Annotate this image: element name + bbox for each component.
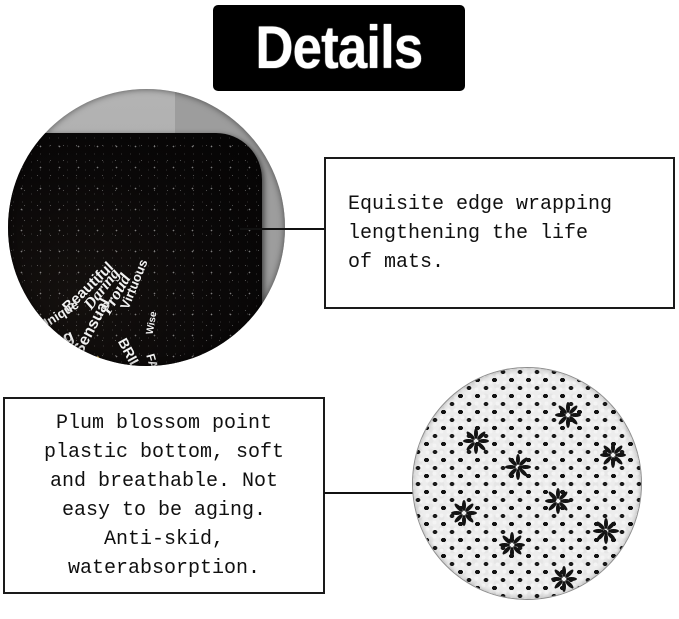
connector-line-top [240,228,326,230]
callout-edge-wrapping-text: Equisite edge wrapping lengthening the l… [348,190,673,277]
sunflower-icon [68,355,112,366]
callout-plastic-bottom: Plum blossom point plastic bottom, soft … [3,397,325,594]
anti-skid-dot-grid [412,367,642,600]
callout-edge-wrapping: Equisite edge wrapping lengthening the l… [324,157,675,309]
plum-blossom-point [503,452,533,482]
connector-line-bottom [324,492,414,494]
plum-blossom-point [598,440,628,470]
plum-blossom-point [549,564,579,594]
callout-plastic-bottom-text: Plum blossom point plastic bottom, soft … [15,409,313,583]
plum-blossom-point [461,426,491,456]
details-title: Details [255,18,422,78]
infographic-canvas: Details VirtuousWiseProudDaringBeautiful… [0,0,679,619]
plum-blossom-point [591,516,621,546]
details-banner: Details [213,5,465,91]
plum-blossom-point [553,400,583,430]
plum-blossom-point [497,530,527,560]
plum-blossom-point [449,498,479,528]
product-photo-mat-backing [412,367,642,600]
plum-blossom-point [543,486,573,516]
bath-mat-surface: VirtuousWiseProudDaringBeautifulUniqueSe… [8,133,262,366]
